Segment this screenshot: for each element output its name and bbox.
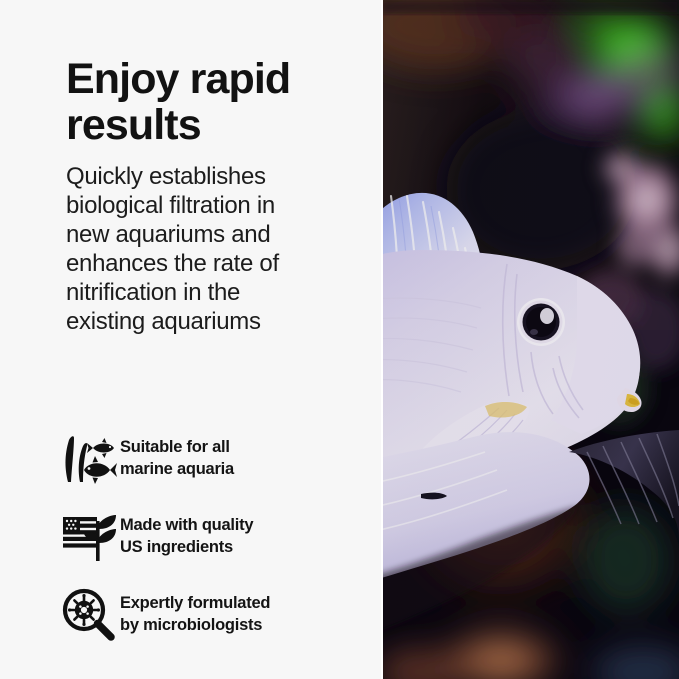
list-item: Suitable for all marine aquaria — [58, 420, 358, 498]
product-description: Quickly establishes biological filtratio… — [66, 162, 311, 336]
feature-label: Suitable for all marine aquaria — [120, 437, 234, 481]
list-item: Expertly formulated by microbiologists — [58, 576, 358, 654]
feature-list: Suitable for all marine aquaria — [58, 420, 358, 654]
feature-label: Expertly formulated by microbiologists — [120, 593, 270, 637]
us-flag-plant-icon — [58, 509, 120, 565]
panel-divider — [381, 0, 383, 679]
product-photo — [381, 0, 679, 679]
seaweed-fish-icon — [58, 431, 120, 487]
list-item: Made with quality US ingredients — [58, 498, 358, 576]
magnifier-microbe-icon — [58, 587, 120, 643]
page-title: Enjoy rapid results — [66, 56, 336, 148]
text-panel: Enjoy rapid results Quickly establishes … — [0, 0, 381, 679]
feature-label: Made with quality US ingredients — [120, 515, 253, 559]
product-feature-card: Enjoy rapid results Quickly establishes … — [0, 0, 679, 679]
panel-copy-block: Enjoy rapid results Quickly establishes … — [66, 56, 341, 336]
